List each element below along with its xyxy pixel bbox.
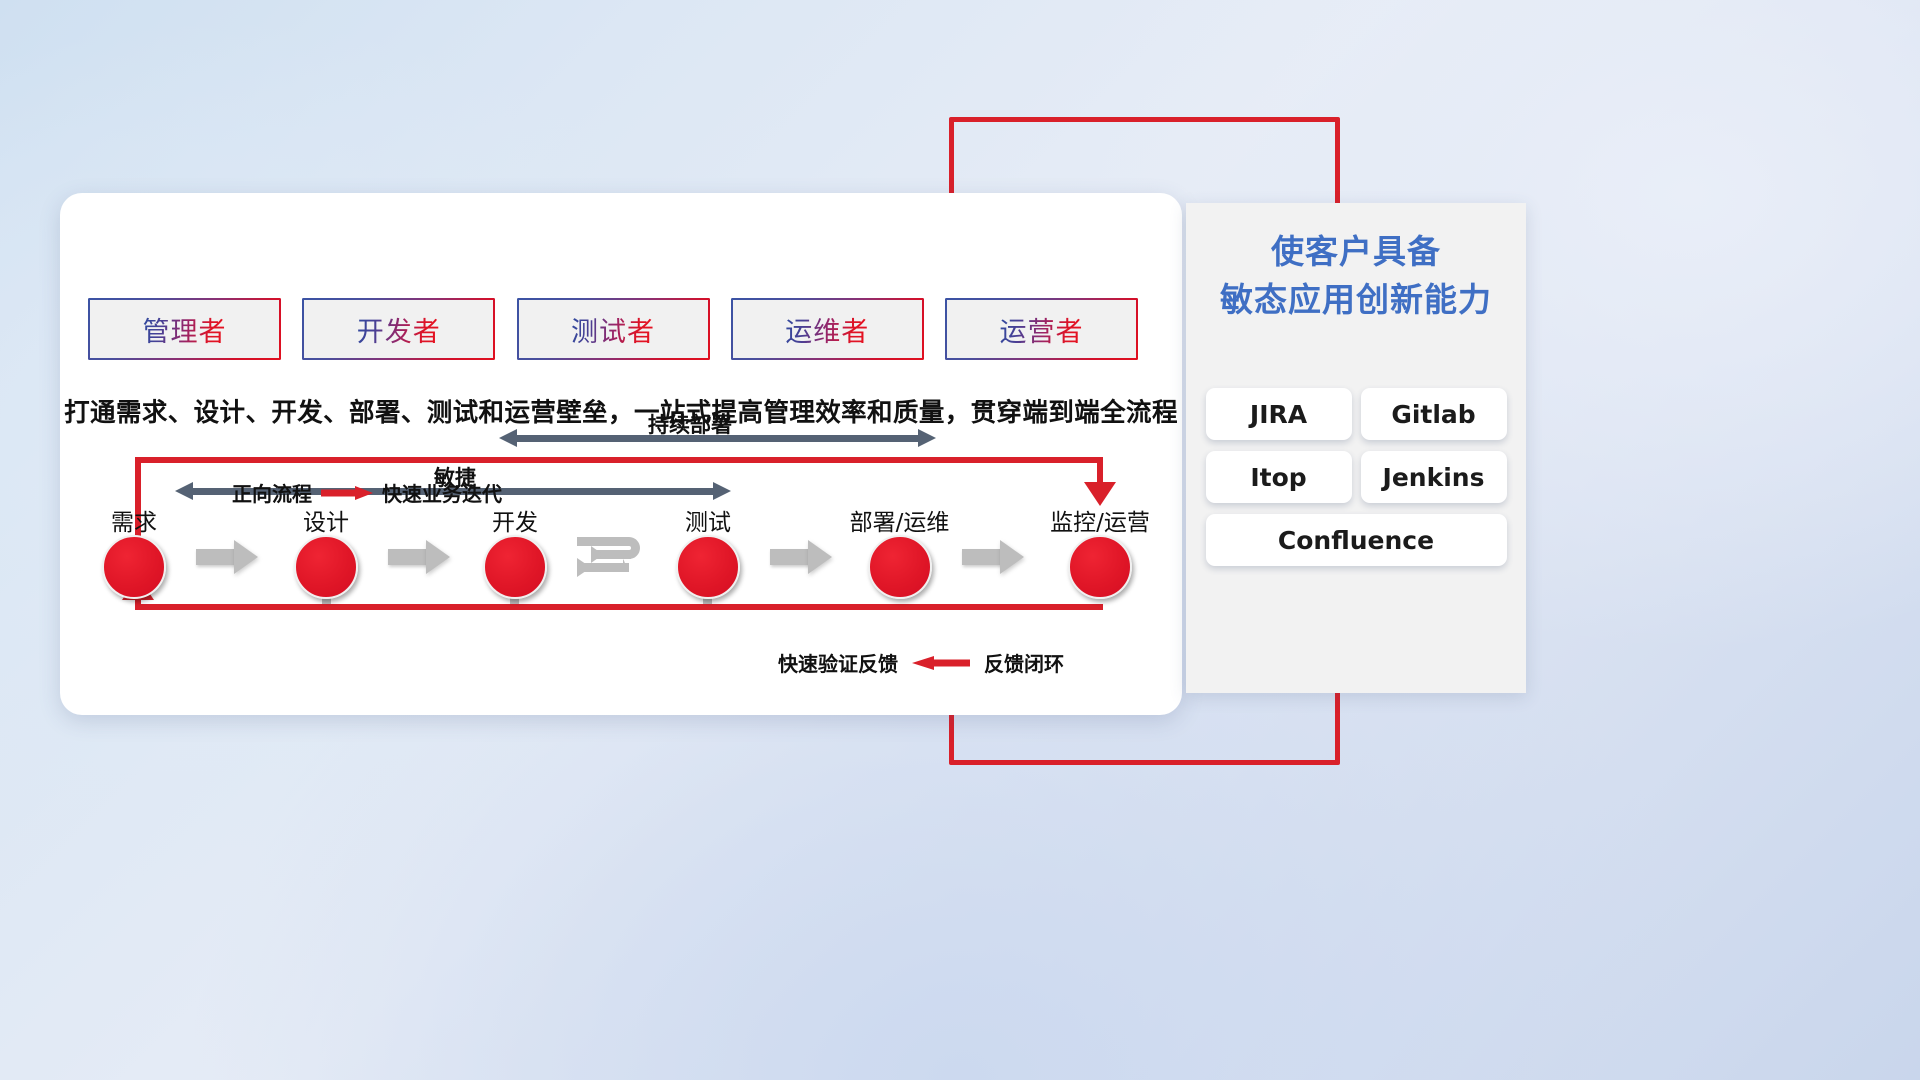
pipeline-arrow-2-icon xyxy=(388,540,450,574)
role-label: 管理者 xyxy=(143,310,227,349)
arrow-left-icon xyxy=(912,656,970,670)
pipeline-stage-dot xyxy=(676,535,740,599)
role-box-row: 管理者 开发者 测试者 运维者 运营者 xyxy=(90,300,1136,360)
tools-panel-title-line2: 敏态应用创新能力 xyxy=(1186,276,1526,324)
main-content-card xyxy=(60,193,1182,715)
red-loop-bottom xyxy=(135,604,1103,610)
role-label: 开发者 xyxy=(357,310,441,349)
span-label-continuous-deployment: 持续部署 xyxy=(648,409,732,439)
pipeline-stage-label: 开发 xyxy=(492,503,538,537)
role-box-ops[interactable]: 运维者 xyxy=(733,300,922,358)
tool-chip-itop[interactable]: Itop xyxy=(1206,451,1352,503)
pipeline-stage-label: 部署/运维 xyxy=(850,503,950,537)
tool-chip-jenkins[interactable]: Jenkins xyxy=(1361,451,1507,503)
forward-flow-left-label: 正向流程 xyxy=(232,478,312,507)
red-loop-top xyxy=(135,457,1103,463)
role-box-tester[interactable]: 测试者 xyxy=(519,300,708,358)
pipeline-arrow-5-icon xyxy=(962,540,1024,574)
tool-chip-confluence[interactable]: Confluence xyxy=(1206,514,1507,566)
feedback-legend: 快速验证反馈 反馈闭环 xyxy=(778,648,1064,677)
pipeline-stage-label: 监控/运营 xyxy=(1050,503,1150,537)
role-box-manager[interactable]: 管理者 xyxy=(90,300,279,358)
headline-text: 打通需求、设计、开发、部署、测试和运营壁垒，一站式提高管理效率和质量，贯穿端到端… xyxy=(60,392,1182,429)
tools-panel-title-line1: 使客户具备 xyxy=(1186,228,1526,276)
role-label: 运营者 xyxy=(1000,310,1084,349)
pipeline-stage-dot xyxy=(1068,535,1132,599)
pipeline-stage-dot xyxy=(294,535,358,599)
pipeline-stage-dot xyxy=(483,535,547,599)
u-turn-loop-icon xyxy=(575,534,655,587)
tool-chip-jira[interactable]: JIRA xyxy=(1206,388,1352,440)
role-label: 运维者 xyxy=(785,310,869,349)
pipeline-stage-label: 需求 xyxy=(111,503,157,537)
role-box-operator[interactable]: 运营者 xyxy=(947,300,1136,358)
span-label-agile: 敏捷 xyxy=(434,462,476,492)
pipeline-stage-dot xyxy=(868,535,932,599)
tools-panel-title: 使客户具备 敏态应用创新能力 xyxy=(1186,228,1526,324)
pipeline-stage-label: 设计 xyxy=(303,503,349,537)
pipeline-stage-dot xyxy=(102,535,166,599)
role-label: 测试者 xyxy=(571,310,655,349)
tools-list: JIRA Gitlab Itop Jenkins Confluence xyxy=(1196,388,1516,566)
pipeline-stage-label: 测试 xyxy=(685,503,731,537)
arrow-right-icon xyxy=(321,486,373,500)
feedback-left-label: 快速验证反馈 xyxy=(778,648,898,677)
tools-panel: 使客户具备 敏态应用创新能力 JIRA Gitlab Itop Jenkins … xyxy=(1186,203,1526,693)
role-box-developer[interactable]: 开发者 xyxy=(304,300,493,358)
tool-chip-gitlab[interactable]: Gitlab xyxy=(1361,388,1507,440)
pipeline-arrow-4-icon xyxy=(770,540,832,574)
slide-canvas: 管理者 开发者 测试者 运维者 运营者 打通需求、设计、开发、部署、测试和运营壁… xyxy=(0,0,1920,1080)
feedback-right-label: 反馈闭环 xyxy=(984,648,1064,677)
pipeline-arrow-1-icon xyxy=(196,540,258,574)
